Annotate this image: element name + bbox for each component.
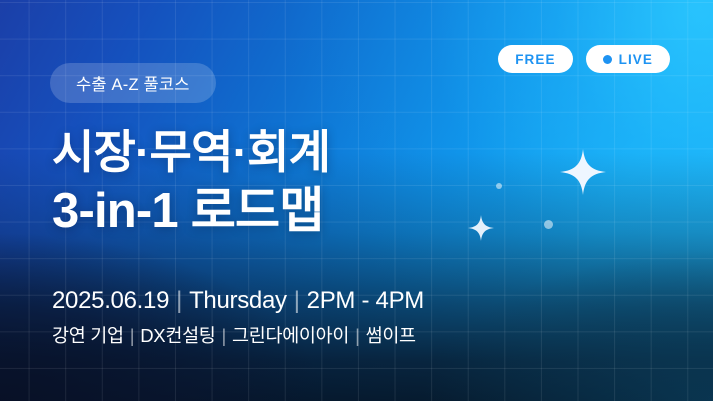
status-badge-group: FREE LIVE bbox=[498, 45, 670, 73]
meta-separator: | bbox=[349, 325, 366, 346]
meta-separator: | bbox=[216, 325, 233, 346]
headline-line-2: 3-in-1 로드맵 bbox=[52, 182, 330, 242]
speaker-org-3: 썸이프 bbox=[366, 325, 416, 346]
event-meta: 2025.06.19|Thursday|2PM - 4PM 강연 기업|DX컨설… bbox=[52, 285, 424, 348]
live-indicator-dot-icon bbox=[603, 55, 612, 64]
banner-content: 수출 A-Z 풀코스 FREE LIVE 시장·무역·회계 3-in-1 로드맵… bbox=[0, 0, 713, 401]
event-schedule-line: 2025.06.19|Thursday|2PM - 4PM bbox=[52, 285, 424, 316]
eyebrow-badge: 수출 A-Z 풀코스 bbox=[50, 63, 216, 103]
status-badge-free: FREE bbox=[498, 45, 572, 73]
event-weekday: Thursday bbox=[189, 287, 287, 314]
live-badge-label: LIVE bbox=[619, 52, 653, 67]
free-badge-label: FREE bbox=[515, 52, 555, 67]
event-date: 2025.06.19 bbox=[52, 287, 169, 314]
headline-line-1: 시장·무역·회계 bbox=[52, 124, 330, 180]
meta-separator: | bbox=[287, 287, 307, 314]
speaker-org-1: DX컨설팅 bbox=[140, 325, 215, 346]
event-time: 2PM - 4PM bbox=[307, 287, 424, 314]
headline: 시장·무역·회계 3-in-1 로드맵 bbox=[52, 124, 330, 242]
event-speakers-line: 강연 기업|DX컨설팅|그린다에이아이|썸이프 bbox=[52, 324, 424, 348]
speakers-label: 강연 기업 bbox=[52, 325, 124, 346]
promo-banner: 수출 A-Z 풀코스 FREE LIVE 시장·무역·회계 3-in-1 로드맵… bbox=[0, 0, 713, 401]
meta-separator: | bbox=[169, 287, 189, 314]
eyebrow-badge-label: 수출 A-Z 풀코스 bbox=[76, 71, 190, 95]
meta-separator: | bbox=[124, 325, 141, 346]
status-badge-live: LIVE bbox=[586, 45, 670, 73]
speaker-org-2: 그린다에이아이 bbox=[232, 325, 349, 346]
